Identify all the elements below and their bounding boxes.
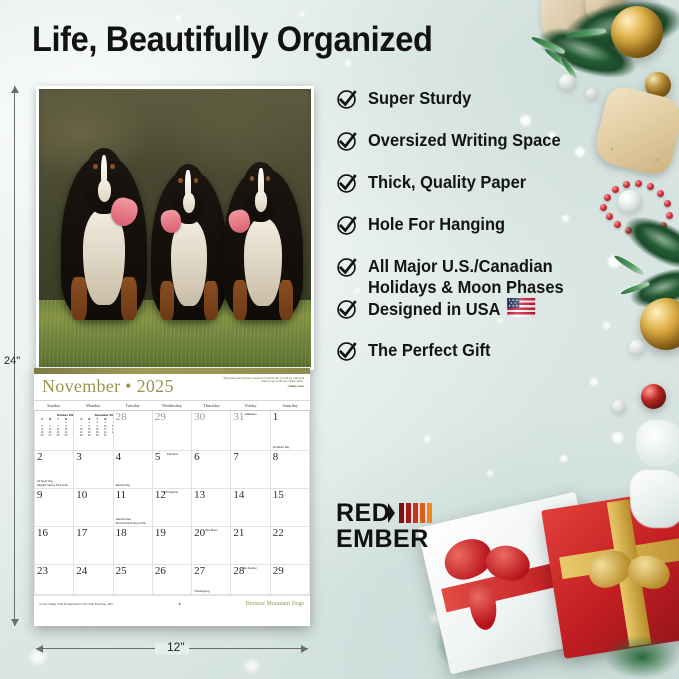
feature-label-line1: Hole For Hanging <box>368 214 505 234</box>
calendar-day-cell: 4Election Day <box>114 451 153 489</box>
calendar-day-cell: 27Thanksgiving <box>192 565 231 595</box>
calendar-quote-source: –Stanley Coren <box>220 385 304 388</box>
brand-name-line2: EMBER <box>336 526 434 552</box>
calendar-day-event: All Saints' Day <box>273 446 307 449</box>
calendar-day-number: 27 <box>194 565 205 578</box>
snow-fleck <box>345 60 351 66</box>
calendar-day-number: 11 <box>116 489 127 502</box>
calendar-footer: *Coren, Stanley. What Do Dogs Know? New … <box>34 596 310 610</box>
promo-image: Life, Beautifully Organized <box>0 0 679 679</box>
feature-label-line1: Super Sturdy <box>368 88 471 108</box>
feature-item: All Major U.S./CanadianHolidays & Moon P… <box>336 256 636 298</box>
calendar-day-cell: 21 <box>231 527 270 565</box>
snow-fleck <box>245 660 259 672</box>
red-ornament <box>641 384 666 409</box>
calendar-day-number: 19 <box>155 527 166 540</box>
calendar-day-cell: 19 <box>153 527 192 565</box>
calendar-day-cell <box>153 595 192 596</box>
mini-day-cell: 28 <box>77 434 85 437</box>
brand-bars-icon <box>399 503 434 523</box>
check-circle-icon <box>336 131 357 152</box>
feature-label: Designed in USA <box>368 298 535 320</box>
calendar-day-cell: December 2025SMTWTFS12345678910111213141… <box>74 411 113 451</box>
calendar-day-number: 17 <box>76 527 87 540</box>
brand-arrow-icon <box>388 503 395 523</box>
calendar-day-cell: 10 <box>74 489 113 527</box>
calendar-day-cell <box>192 595 231 596</box>
day-header: Friday <box>231 401 270 410</box>
dog-leg <box>71 277 86 320</box>
dog-brow <box>93 164 98 169</box>
calendar-series-title: Bernese Mountain Dogs <box>246 601 304 607</box>
dog-brow <box>178 178 182 183</box>
check-circle-icon <box>336 341 357 362</box>
dog-leg <box>121 277 136 320</box>
calendar-day-cell: 28 <box>114 411 153 451</box>
dog-leg <box>204 281 218 320</box>
product-photo-dogs <box>36 86 314 370</box>
us-flag-icon <box>507 298 535 317</box>
calendar-day-cell: 6 <box>192 451 231 489</box>
feature-item: The Perfect Gift <box>336 340 636 362</box>
calendar-moon-phase: First Quarter <box>235 567 257 570</box>
bernese-dog-left <box>61 155 147 320</box>
calendar-month-year: November • 2025 <box>42 376 174 396</box>
calendar-day-cell: 31Halloween <box>231 411 270 451</box>
brand-logo: RED EMBER <box>336 500 434 552</box>
day-header: Thursday <box>192 401 231 410</box>
day-header: Wednesday <box>152 401 191 410</box>
brand-bar <box>427 503 432 523</box>
mini-day-cell: 30 <box>93 434 101 437</box>
calendar-day-cell: 17 <box>74 527 113 565</box>
dog-muzzle <box>255 191 268 212</box>
dog-leg <box>279 280 293 320</box>
feature-label-line2: Holidays & Moon Phases <box>368 277 564 298</box>
calendar-day-cell: 29 <box>153 411 192 451</box>
feature-label: All Major U.S./CanadianHolidays & Moon P… <box>368 256 564 298</box>
dog-brow <box>194 178 198 183</box>
snow-fleck <box>424 436 430 442</box>
calendar-day-cell: 24 <box>74 565 113 595</box>
brand-name-line1: RED <box>336 500 390 526</box>
width-measure-label: 12" <box>163 640 189 654</box>
calendar-day-number: 28 <box>116 411 127 424</box>
day-header: Tuesday <box>113 401 152 410</box>
mini-day-cell: 27 <box>46 434 54 437</box>
calendar-day-number: 14 <box>233 489 244 502</box>
dog-muzzle <box>183 193 195 213</box>
calendar-day-event: Veterans DayRemembrance Day (CAN) <box>116 518 150 525</box>
dog-brow <box>110 164 115 169</box>
day-header: Monday <box>73 401 112 410</box>
calendar-day-cell: 22 <box>271 527 310 565</box>
mini-calendar-title: October 2025 <box>38 413 74 417</box>
feature-label-line1: The Perfect Gift <box>368 340 490 360</box>
calendar-credit: *Coren, Stanley. What Do Dogs Know? New … <box>39 603 114 606</box>
day-header: Sunday <box>34 401 73 410</box>
snow-fleck <box>300 12 305 17</box>
calendar-day-cell: 16 <box>35 527 74 565</box>
calendar-day-cell: 8 <box>271 451 310 489</box>
calendar-day-cell: 29 <box>271 565 310 595</box>
calendar-page-mark: ★ <box>178 602 181 606</box>
feature-item: Hole For Hanging <box>336 214 636 236</box>
feature-item: Super Sturdy <box>336 88 636 110</box>
calendar-moon-phase: Halloween <box>235 413 257 416</box>
height-measure-label: 24" <box>4 355 20 367</box>
dog-brow <box>250 176 254 181</box>
calendar-day-cell: 18 <box>114 527 153 565</box>
calendar-day-number: 24 <box>76 565 87 578</box>
feature-label: The Perfect Gift <box>368 340 490 361</box>
calendar-day-cell: 11Veterans DayRemembrance Day (CAN) <box>114 489 153 527</box>
bernese-dog-right <box>223 168 303 320</box>
feature-item: Oversized Writing Space <box>336 130 636 152</box>
calendar-grid: October 2025SMTWTFS123456789101112131415… <box>34 410 310 596</box>
snow-fleck <box>487 470 493 476</box>
check-circle-icon <box>336 257 357 278</box>
feature-label: Thick, Quality Paper <box>368 172 526 193</box>
calendar-day-cell: 12Third Quarter <box>153 489 192 527</box>
feature-label-line1: Designed in USA <box>368 299 501 319</box>
mini-calendar-previous-month: October 2025SMTWTFS123456789101112131415… <box>38 413 74 438</box>
calendar-day-number: 9 <box>37 489 43 502</box>
feature-item: Designed in USA <box>336 298 636 320</box>
calendar-day-cell: 26 <box>153 565 192 595</box>
calendar-header: November • 2025 "The greatest fear dogs … <box>34 374 310 400</box>
dog-leg <box>233 280 247 320</box>
calendar-day-cell: 5Full Moon <box>153 451 192 489</box>
calendar-day-cell: 25 <box>114 565 153 595</box>
pine-sprig <box>596 630 679 679</box>
mini-day-cell: 31 <box>101 434 109 437</box>
calendar-day-number: 29 <box>273 565 284 578</box>
snow-fleck <box>560 455 567 462</box>
calendar-quote-text: "The greatest fear dogs know, however, i… <box>223 377 304 383</box>
calendar-day-cell: 13 <box>192 489 231 527</box>
calendar-day-number: 2 <box>37 451 43 464</box>
calendar-day-cell: 15 <box>271 489 310 527</box>
check-circle-icon <box>336 215 357 236</box>
calendar-day-cell: 14 <box>231 489 270 527</box>
calendar-day-headers: Sunday Monday Tuesday Wednesday Thursday… <box>34 400 310 410</box>
feature-label: Super Sturdy <box>368 88 471 109</box>
check-circle-icon <box>336 299 357 320</box>
dog-chest <box>244 218 282 306</box>
calendar-moon-phase: Third Quarter <box>156 491 178 494</box>
calendar-day-cell <box>74 595 113 596</box>
calendar-day-cell: 2All Souls' DayDaylight Saving Time ends <box>35 451 74 489</box>
mini-day-cell: 28 <box>54 434 62 437</box>
bernese-dog-center <box>151 170 227 320</box>
check-circle-icon <box>336 173 357 194</box>
calendar-day-cell: 9 <box>35 489 74 527</box>
feature-label-line1: Oversized Writing Space <box>368 130 561 150</box>
calendar-quote: "The greatest fear dogs know, however, i… <box>220 376 304 388</box>
dog-chest <box>171 219 207 306</box>
mini-calendar-next-month: December 2025SMTWTFS12345678910111213141… <box>77 413 113 438</box>
calendar-day-event: All Souls' DayDaylight Saving Time ends <box>37 480 71 487</box>
calendar-day-number: 6 <box>194 451 200 464</box>
mini-day-cell: 29 <box>85 434 93 437</box>
calendar-moon-phase: Full Moon <box>156 453 178 456</box>
calendar-day-cell: 7 <box>231 451 270 489</box>
calendar-moon-phase: New Moon <box>195 529 217 532</box>
white-deer-figurine <box>630 470 679 528</box>
calendar-day-number: 13 <box>194 489 205 502</box>
calendar-day-number: 21 <box>233 527 244 540</box>
calendar-day-cell <box>231 595 270 596</box>
calendar-day-cell: 23 <box>35 565 74 595</box>
calendar-day-cell: 20New Moon <box>192 527 231 565</box>
calendar-day-number: 10 <box>76 489 87 502</box>
calendar-day-cell: 3 <box>74 451 113 489</box>
feature-label: Hole For Hanging <box>368 214 505 235</box>
calendar-day-event: Election Day <box>116 484 150 487</box>
feature-item: Thick, Quality Paper <box>336 172 636 194</box>
calendar-day-number: 7 <box>233 451 239 464</box>
brand-bar <box>413 503 418 523</box>
calendar-day-number: 26 <box>155 565 166 578</box>
white-decoration <box>636 420 679 466</box>
calendar-day-cell <box>114 595 153 596</box>
calendar-day-number: 25 <box>116 565 127 578</box>
gold-ornament <box>611 6 663 58</box>
calendar-day-number: 30 <box>194 411 205 424</box>
check-circle-icon <box>336 89 357 110</box>
dog-muzzle <box>98 180 111 202</box>
calendar-day-event: Thanksgiving <box>194 590 228 593</box>
mini-day-cell: 26 <box>38 434 46 437</box>
calendar-day-number: 4 <box>116 451 122 464</box>
snow-fleck <box>612 432 623 443</box>
dog-leg <box>160 281 174 320</box>
feature-label-line1: Thick, Quality Paper <box>368 172 526 192</box>
calendar-day-number: 22 <box>273 527 284 540</box>
mini-day-cell: 29 <box>62 434 70 437</box>
calendar-day-cell: 30Advent <box>35 595 74 596</box>
day-header: Saturday <box>271 401 310 410</box>
calendar-day-number: 23 <box>37 565 48 578</box>
brand-bar <box>399 503 404 523</box>
calendar-day-number: 3 <box>76 451 82 464</box>
calendar-day-cell: 30 <box>192 411 231 451</box>
calendar-day-number: 18 <box>116 527 127 540</box>
calendar-day-number: 16 <box>37 527 48 540</box>
calendar-day-cell: 28First Quarter <box>231 565 270 595</box>
calendar-day-number: 29 <box>155 411 166 424</box>
mini-calendar-title: December 2025 <box>77 413 113 417</box>
dog-brow <box>266 176 270 181</box>
brand-logo-row: RED <box>336 500 434 526</box>
white-ornament <box>612 400 626 414</box>
brand-bar <box>406 503 411 523</box>
calendar-day-cell: October 2025SMTWTFS123456789101112131415… <box>35 411 74 451</box>
feature-label: Oversized Writing Space <box>368 130 561 151</box>
product-photo-calendar: November • 2025 "The greatest fear dogs … <box>34 368 310 626</box>
page-title: Life, Beautifully Organized <box>32 20 433 60</box>
feature-label-line1: All Major U.S./Canadian <box>368 256 553 276</box>
calendar-day-cell: 1All Saints' Day <box>271 411 310 451</box>
calendar-day-number: 15 <box>273 489 284 502</box>
feature-list: Super SturdyOversized Writing SpaceThick… <box>336 88 636 382</box>
calendar-day-number: 8 <box>273 451 279 464</box>
calendar-day-cell <box>271 595 310 596</box>
brand-bar <box>420 503 425 523</box>
calendar-day-number: 1 <box>273 411 279 424</box>
